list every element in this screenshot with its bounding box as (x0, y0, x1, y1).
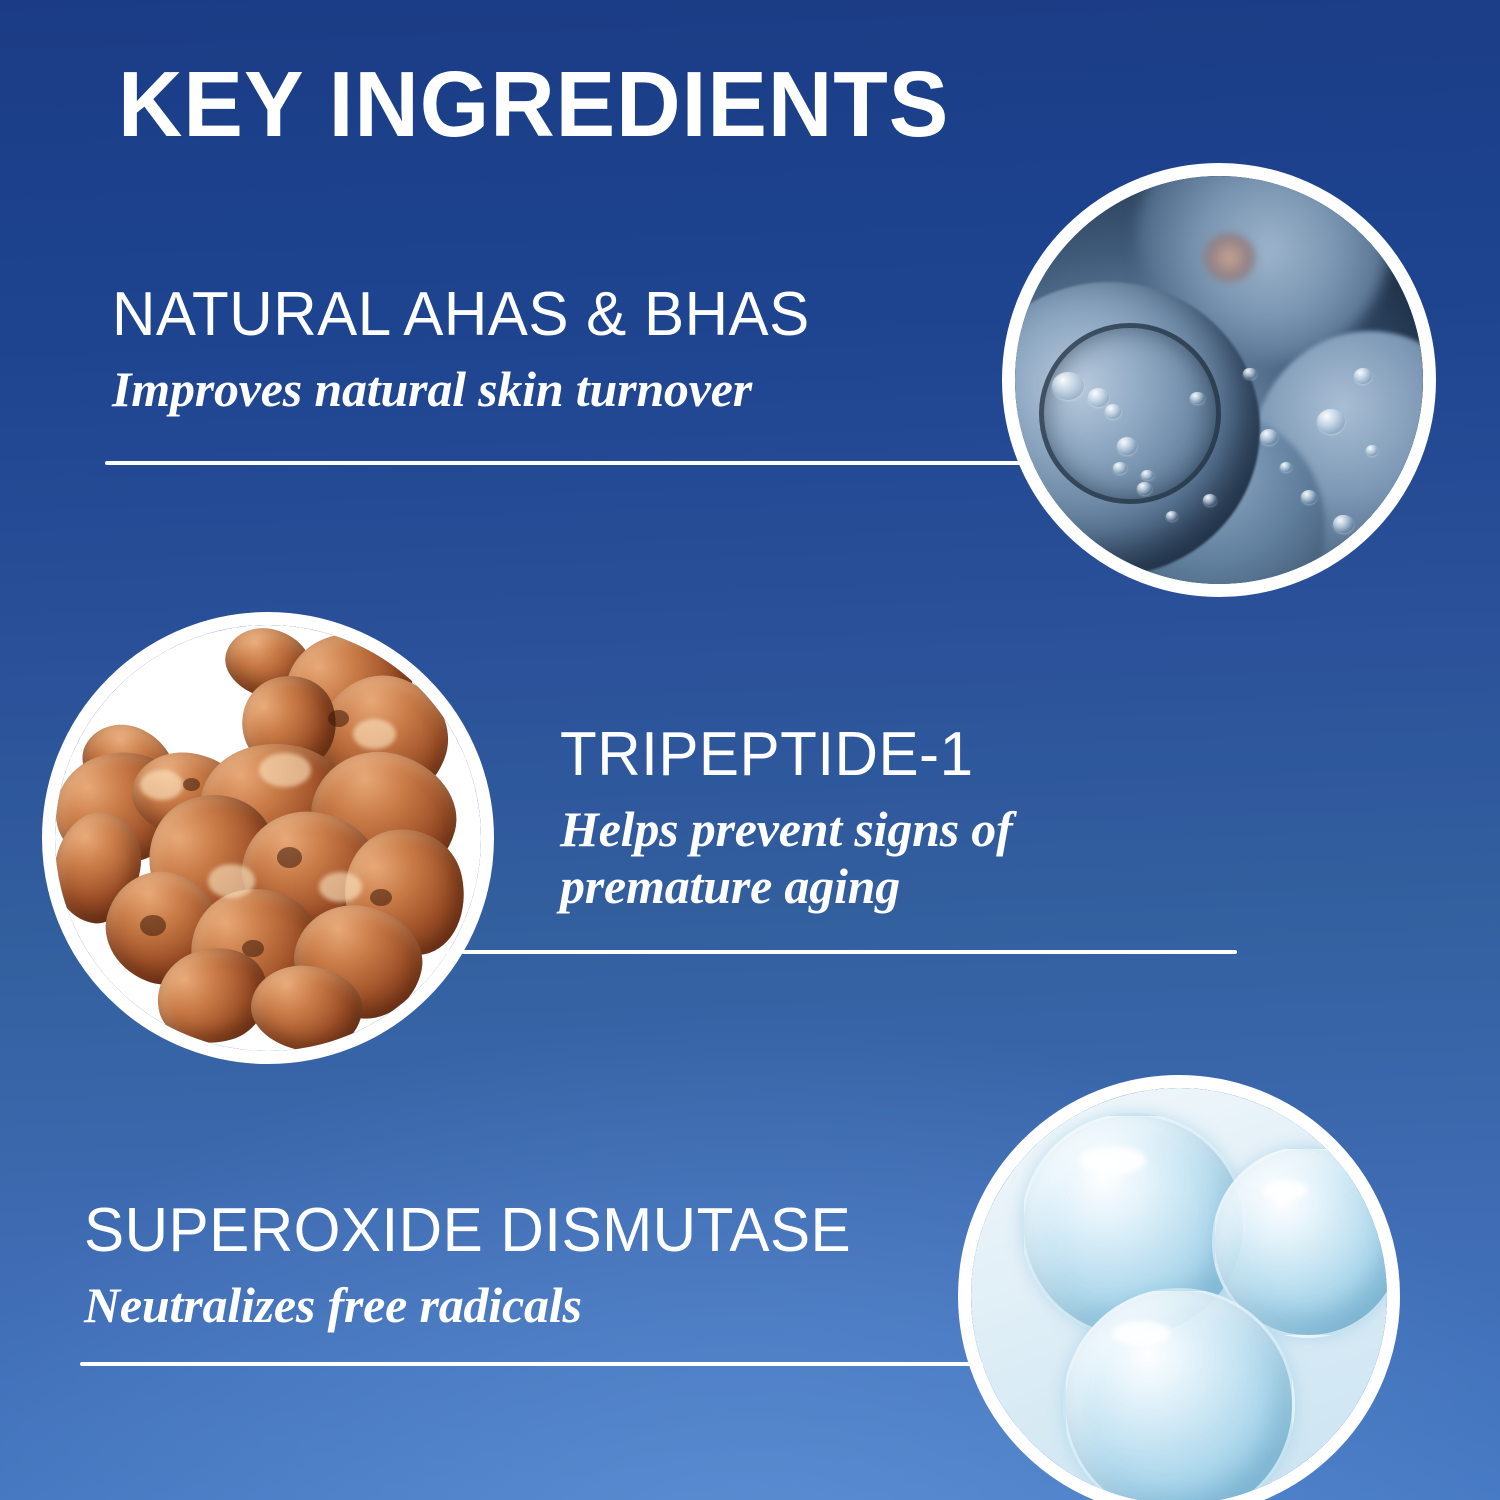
connector-line-1 (105, 461, 1141, 465)
gel-spheres-photo (958, 1075, 1400, 1500)
key-ingredients-infographic: KEY INGREDIENTS NATURAL AHAS & BHAS Impr… (0, 0, 1500, 1500)
ingredient-name-2: TRIPEPTIDE-1 (560, 722, 999, 787)
ingredient-description-2-line-1: Helps prevent signs of (560, 801, 1013, 858)
ingredient-description-1: Improves natural skin turnover (112, 361, 831, 418)
ingredient-description-3: Neutralizes free radicals (84, 1277, 875, 1334)
ingredient-name-1: NATURAL AHAS & BHAS (112, 282, 810, 347)
ingredient-description-1-line-1: Improves natural skin turnover (112, 361, 831, 418)
blueberries-photo (1002, 163, 1436, 597)
ingredient-description-3-line-1: Neutralizes free radicals (84, 1277, 875, 1334)
ingredient-block-3: SUPEROXIDE DISMUTASE Neutralizes free ra… (84, 1198, 875, 1334)
ingredient-name-3: SUPEROXIDE DISMUTASE (84, 1198, 851, 1263)
ingredient-description-2: Helps prevent signs of premature aging (560, 801, 1013, 915)
connector-line-3 (80, 1362, 1091, 1366)
page-title: KEY INGREDIENTS (118, 58, 949, 151)
copper-nugget-photo (42, 612, 494, 1064)
connector-line-2 (360, 950, 1237, 954)
ingredient-block-1: NATURAL AHAS & BHAS Improves natural ski… (112, 282, 831, 418)
ingredient-description-2-line-2: premature aging (560, 858, 1013, 915)
ingredient-block-2: TRIPEPTIDE-1 Helps prevent signs of prem… (560, 722, 1013, 915)
